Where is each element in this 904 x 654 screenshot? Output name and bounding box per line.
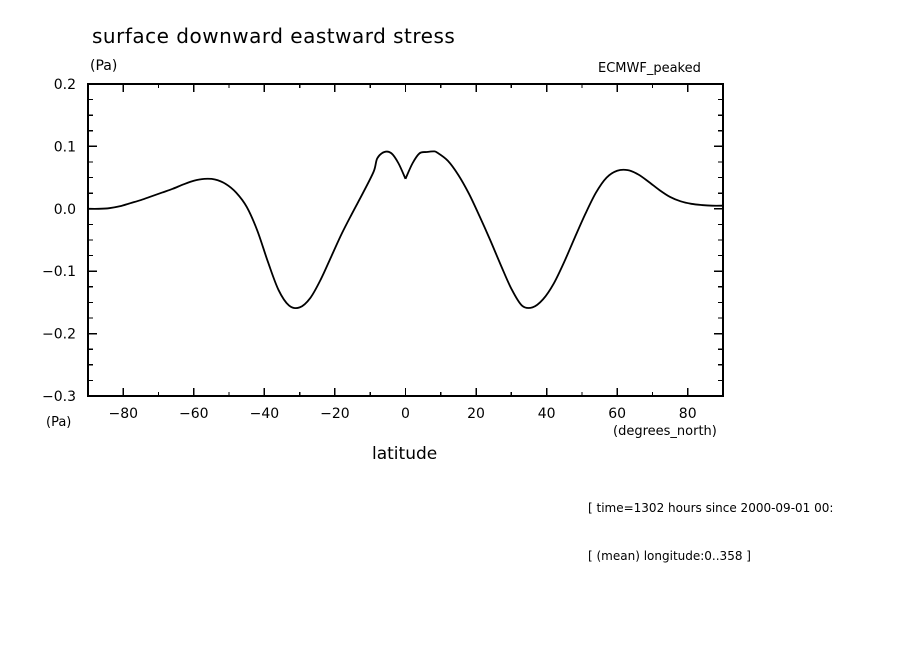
svg-text:−80: −80 <box>109 406 139 422</box>
svg-text:80: 80 <box>679 406 697 422</box>
data-series-line <box>88 151 723 308</box>
svg-text:−20: −20 <box>320 406 350 422</box>
svg-text:0.0: 0.0 <box>54 202 76 218</box>
svg-text:60: 60 <box>608 406 626 422</box>
svg-text:0: 0 <box>401 406 410 422</box>
axis-ticks <box>88 84 723 396</box>
svg-text:0.2: 0.2 <box>54 77 76 93</box>
chart-canvas: −80−60−40−200204060800.20.10.0−0.1−0.2−0… <box>0 0 904 654</box>
svg-text:−40: −40 <box>250 406 280 422</box>
plot-frame <box>88 84 723 396</box>
svg-text:−0.1: −0.1 <box>42 264 76 280</box>
svg-text:40: 40 <box>538 406 556 422</box>
svg-text:0.1: 0.1 <box>54 139 76 155</box>
svg-text:20: 20 <box>467 406 485 422</box>
axis-tick-labels: −80−60−40−200204060800.20.10.0−0.1−0.2−0… <box>42 77 697 422</box>
svg-text:−0.2: −0.2 <box>42 327 76 343</box>
svg-text:−60: −60 <box>179 406 209 422</box>
svg-text:−0.3: −0.3 <box>42 389 76 405</box>
